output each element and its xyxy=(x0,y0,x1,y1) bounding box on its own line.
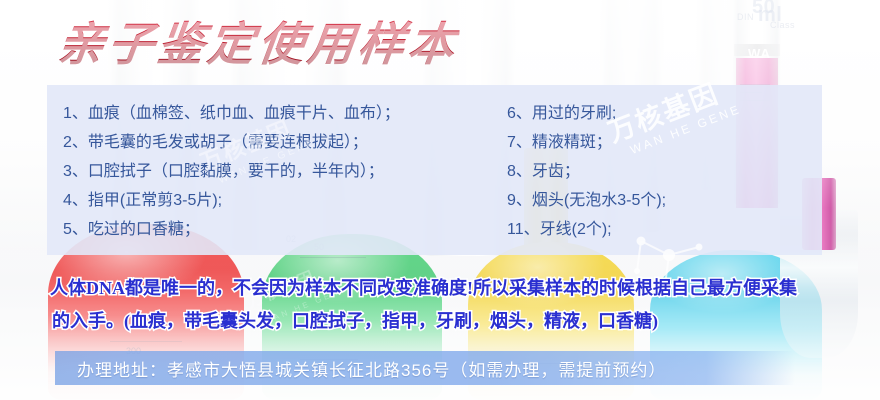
address-text: 办理地址：孝感市大悟县城关镇长征北路356号（如需办理，需提前预约） xyxy=(55,356,666,381)
sample-column-left: 1、血痕（血棉签、纸巾血、血痕干片、血布）； 2、带毛囊的毛发或胡子（需要连根拔… xyxy=(47,99,495,255)
cylinder-class-label: Class xyxy=(770,20,795,30)
flask-red-graduation xyxy=(110,341,182,342)
sample-columns: 1、血痕（血棉签、纸巾血、血痕干片、血布）； 2、带毛囊的毛发或胡子（需要连根拔… xyxy=(47,85,822,255)
list-item: 5、吃过的口香糖； xyxy=(63,215,495,244)
note-line-2: 的入手。(血痕，带毛囊头发，口腔拭子，指甲，牙刷，烟头，精液，口香糖) xyxy=(50,305,840,338)
list-item: 1、血痕（血棉签、纸巾血、血痕干片、血布）； xyxy=(63,99,495,128)
note-line-1: 人体DNA都是唯一的，不会因为样本不同改变准确度!所以采集样本的时候根据自己最方… xyxy=(50,272,840,305)
flask-green-graduation xyxy=(300,257,366,258)
sample-list-panel: 1、血痕（血棉签、纸巾血、血痕干片、血布）； 2、带毛囊的毛发或胡子（需要连根拔… xyxy=(47,85,822,255)
list-item: 9、烟头(无泡水3-5个); xyxy=(507,186,822,215)
list-item: 2、带毛囊的毛发或胡子（需要连根拔起）； xyxy=(63,128,495,157)
sample-list-right: 6、用过的牙刷; 7、精液精斑； 8、牙齿； 9、烟头(无泡水3-5个); 11… xyxy=(507,99,822,244)
cylinder-brand-label: WA xyxy=(748,46,771,61)
list-item: 6、用过的牙刷; xyxy=(507,99,822,128)
note-paragraph: 人体DNA都是唯一的，不会因为样本不同改变准确度!所以采集样本的时候根据自己最方… xyxy=(50,272,840,338)
sample-column-right: 6、用过的牙刷; 7、精液精斑； 8、牙齿； 9、烟头(无泡水3-5个); 11… xyxy=(495,99,822,255)
list-item: 7、精液精斑； xyxy=(507,128,822,157)
list-item: 3、口腔拭子（口腔黏膜，要干的，半年内）； xyxy=(63,157,495,186)
list-item: 8、牙齿； xyxy=(507,157,822,186)
page-title: 亲子鉴定使用样本 xyxy=(55,18,462,72)
list-item: 4、指甲(正常剪3-5片); xyxy=(63,186,495,215)
address-bar: 办理地址：孝感市大悟县城关镇长征北路356号（如需办理，需提前预约） xyxy=(55,351,795,385)
poster-root: 50 ml DIN Class WA 300 50 02 100 亲子鉴定使 xyxy=(0,0,880,400)
sample-list-left: 1、血痕（血棉签、纸巾血、血痕干片、血布）； 2、带毛囊的毛发或胡子（需要连根拔… xyxy=(63,99,495,244)
cylinder-din-label: DIN xyxy=(737,12,754,22)
list-item: 11、牙线(2个); xyxy=(507,215,822,244)
